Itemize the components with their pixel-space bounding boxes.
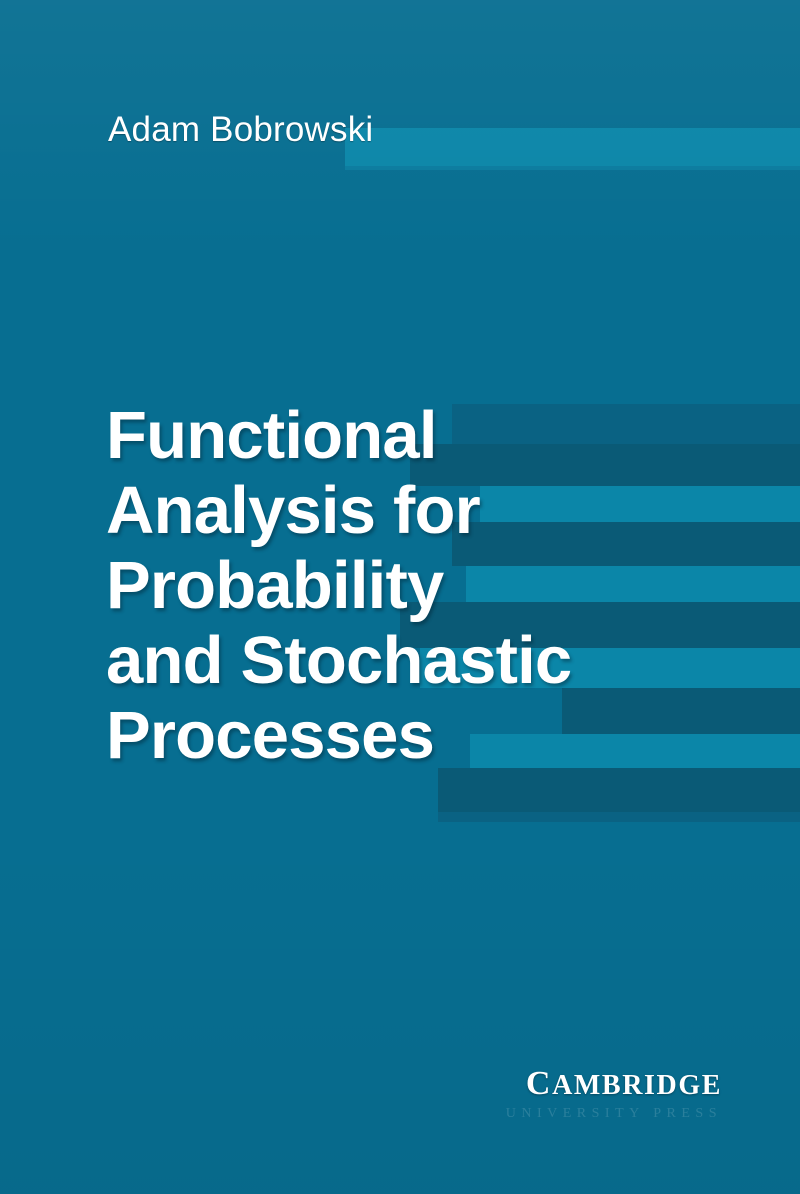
title-line: Analysis for bbox=[106, 473, 746, 548]
title-line: Functional bbox=[106, 398, 746, 473]
cover-typography: Adam Bobrowski Functional Analysis for P… bbox=[0, 0, 800, 1194]
publisher-logo: CAMBRIDGE UNIVERSITY PRESS bbox=[506, 1069, 722, 1122]
book-cover: Adam Bobrowski Functional Analysis for P… bbox=[0, 0, 800, 1194]
publisher-name: CAMBRIDGE bbox=[506, 1069, 722, 1101]
publisher-imprint: UNIVERSITY PRESS bbox=[506, 1106, 722, 1122]
author-name: Adam Bobrowski bbox=[108, 108, 373, 152]
book-title: Functional Analysis for Probability and … bbox=[106, 398, 746, 773]
title-line: Processes bbox=[106, 698, 746, 773]
title-line: and Stochastic bbox=[106, 623, 746, 698]
title-line: Probability bbox=[106, 548, 746, 623]
publisher-name-rest: AMBRIDGE bbox=[552, 1070, 722, 1101]
publisher-initial: C bbox=[526, 1065, 552, 1102]
